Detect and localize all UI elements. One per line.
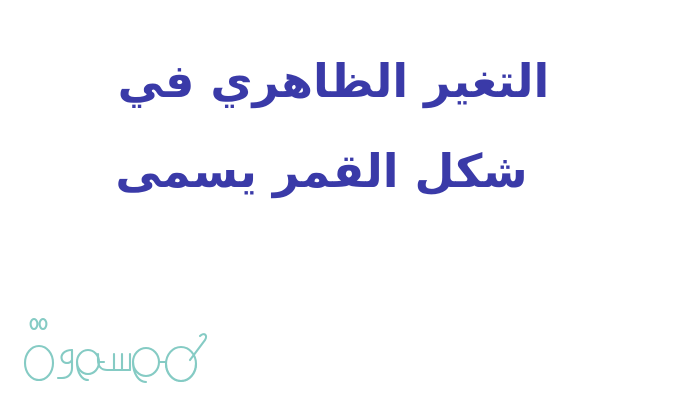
mawdoo3a-logo[interactable] (14, 312, 214, 392)
mawdoo3a-logo-icon (14, 312, 214, 392)
title-line-1: التغير الظاهري في (0, 58, 673, 104)
image-canvas: التغير الظاهري في شكل القمر يسمى (0, 0, 673, 401)
page-title: التغير الظاهري في شكل القمر يسمى (0, 58, 673, 194)
title-line-2: شكل القمر يسمى (0, 148, 673, 194)
